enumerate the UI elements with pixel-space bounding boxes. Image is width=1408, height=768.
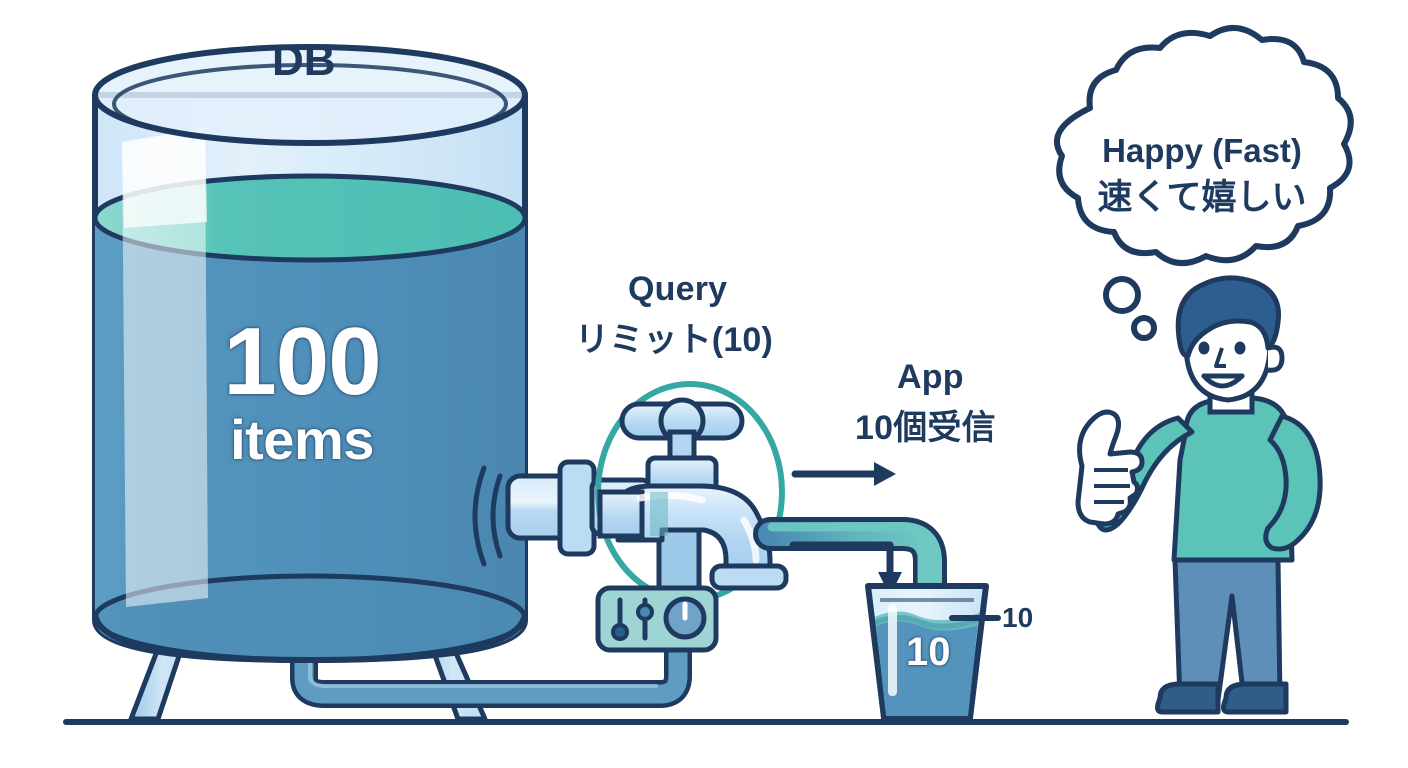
app-label-en: App	[897, 360, 964, 396]
app-label-jp: 10個受信	[855, 410, 996, 447]
tank-amount-value: 100	[152, 318, 452, 406]
valve-control-panel[interactable]	[598, 588, 716, 650]
tank-amount-unit: items	[152, 412, 452, 468]
thought-dot-small	[1134, 318, 1154, 338]
illustration-canvas: DB 100 items Query リミット(10) App 10個受信 10…	[0, 0, 1408, 768]
person	[1078, 278, 1320, 712]
thought-dot-large	[1106, 279, 1138, 311]
person-shoe-right	[1224, 684, 1287, 712]
faucet[interactable]	[600, 400, 786, 610]
glass-fill-value: 10	[906, 630, 951, 675]
bubble-line-jp: 速くて嬉しい	[1052, 178, 1352, 217]
person-pants	[1175, 560, 1280, 700]
query-label-en: Query	[628, 272, 727, 308]
query-label-jp: リミット(10)	[575, 322, 773, 359]
flow-arrow-right	[795, 462, 896, 486]
bubble-line-en: Happy (Fast)	[1052, 133, 1352, 170]
tank-db-label: DB	[272, 36, 336, 86]
person-shoe-left	[1158, 684, 1219, 712]
glass-tick-label: 10	[1002, 602, 1033, 634]
